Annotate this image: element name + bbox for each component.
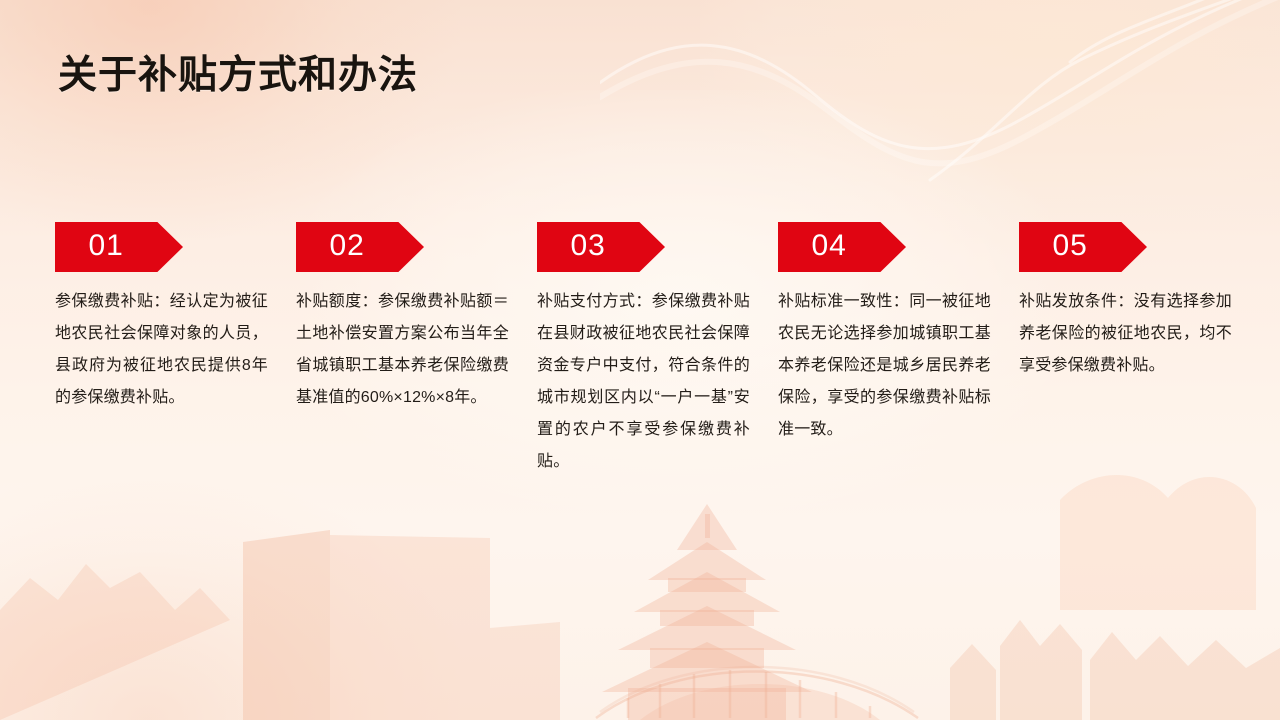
item-body-text: 补贴支付方式：参保缴费补贴在县财政被征地农民社会保障资金专户中支付，符合条件的城… — [537, 286, 750, 478]
city-skyline-decoration-icon — [0, 460, 1280, 720]
number-badge-04: 04 — [778, 222, 906, 272]
badge-number-label: 04 — [778, 222, 880, 272]
numbered-item-01: 01 参保缴费补贴：经认定为被征地农民社会保障对象的人员，县政府为被征地农民提供… — [55, 222, 296, 478]
ribbon-decoration-icon — [600, 0, 1280, 230]
badge-number-label: 05 — [1019, 222, 1121, 272]
numbered-item-02: 02 补贴额度：参保缴费补贴额＝土地补偿安置方案公布当年全省城镇职工基本养老保险… — [296, 222, 537, 478]
page-title: 关于补贴方式和办法 — [58, 54, 418, 99]
badge-number-label: 03 — [537, 222, 639, 272]
badge-number-label: 01 — [55, 222, 157, 272]
item-body-text: 补贴发放条件：没有选择参加养老保险的被征地农民，均不享受参保缴费补贴。 — [1019, 286, 1232, 382]
background-wash-bottom-left — [0, 480, 460, 720]
numbered-items-row: 01 参保缴费补贴：经认定为被征地农民社会保障对象的人员，县政府为被征地农民提供… — [55, 222, 1240, 478]
item-body-text: 补贴额度：参保缴费补贴额＝土地补偿安置方案公布当年全省城镇职工基本养老保险缴费基… — [296, 286, 509, 414]
background-wash-top-left — [0, 0, 460, 240]
item-body-text: 参保缴费补贴：经认定为被征地农民社会保障对象的人员，县政府为被征地农民提供8年的… — [55, 286, 268, 414]
numbered-item-05: 05 补贴发放条件：没有选择参加养老保险的被征地农民，均不享受参保缴费补贴。 — [1019, 222, 1260, 478]
item-body-text: 补贴标准一致性：同一被征地农民无论选择参加城镇职工基本养老保险还是城乡居民养老保… — [778, 286, 991, 446]
numbered-item-03: 03 补贴支付方式：参保缴费补贴在县财政被征地农民社会保障资金专户中支付，符合条… — [537, 222, 778, 478]
badge-number-label: 02 — [296, 222, 398, 272]
number-badge-03: 03 — [537, 222, 665, 272]
number-badge-01: 01 — [55, 222, 183, 272]
background-wash-top-right — [700, 0, 1280, 250]
numbered-item-04: 04 补贴标准一致性：同一被征地农民无论选择参加城镇职工基本养老保险还是城乡居民… — [778, 222, 1019, 478]
number-badge-05: 05 — [1019, 222, 1147, 272]
slide-canvas: 关于补贴方式和办法 01 参保缴费补贴：经认定为被征地农民社会保障对象的人员，县… — [0, 0, 1280, 720]
number-badge-02: 02 — [296, 222, 424, 272]
